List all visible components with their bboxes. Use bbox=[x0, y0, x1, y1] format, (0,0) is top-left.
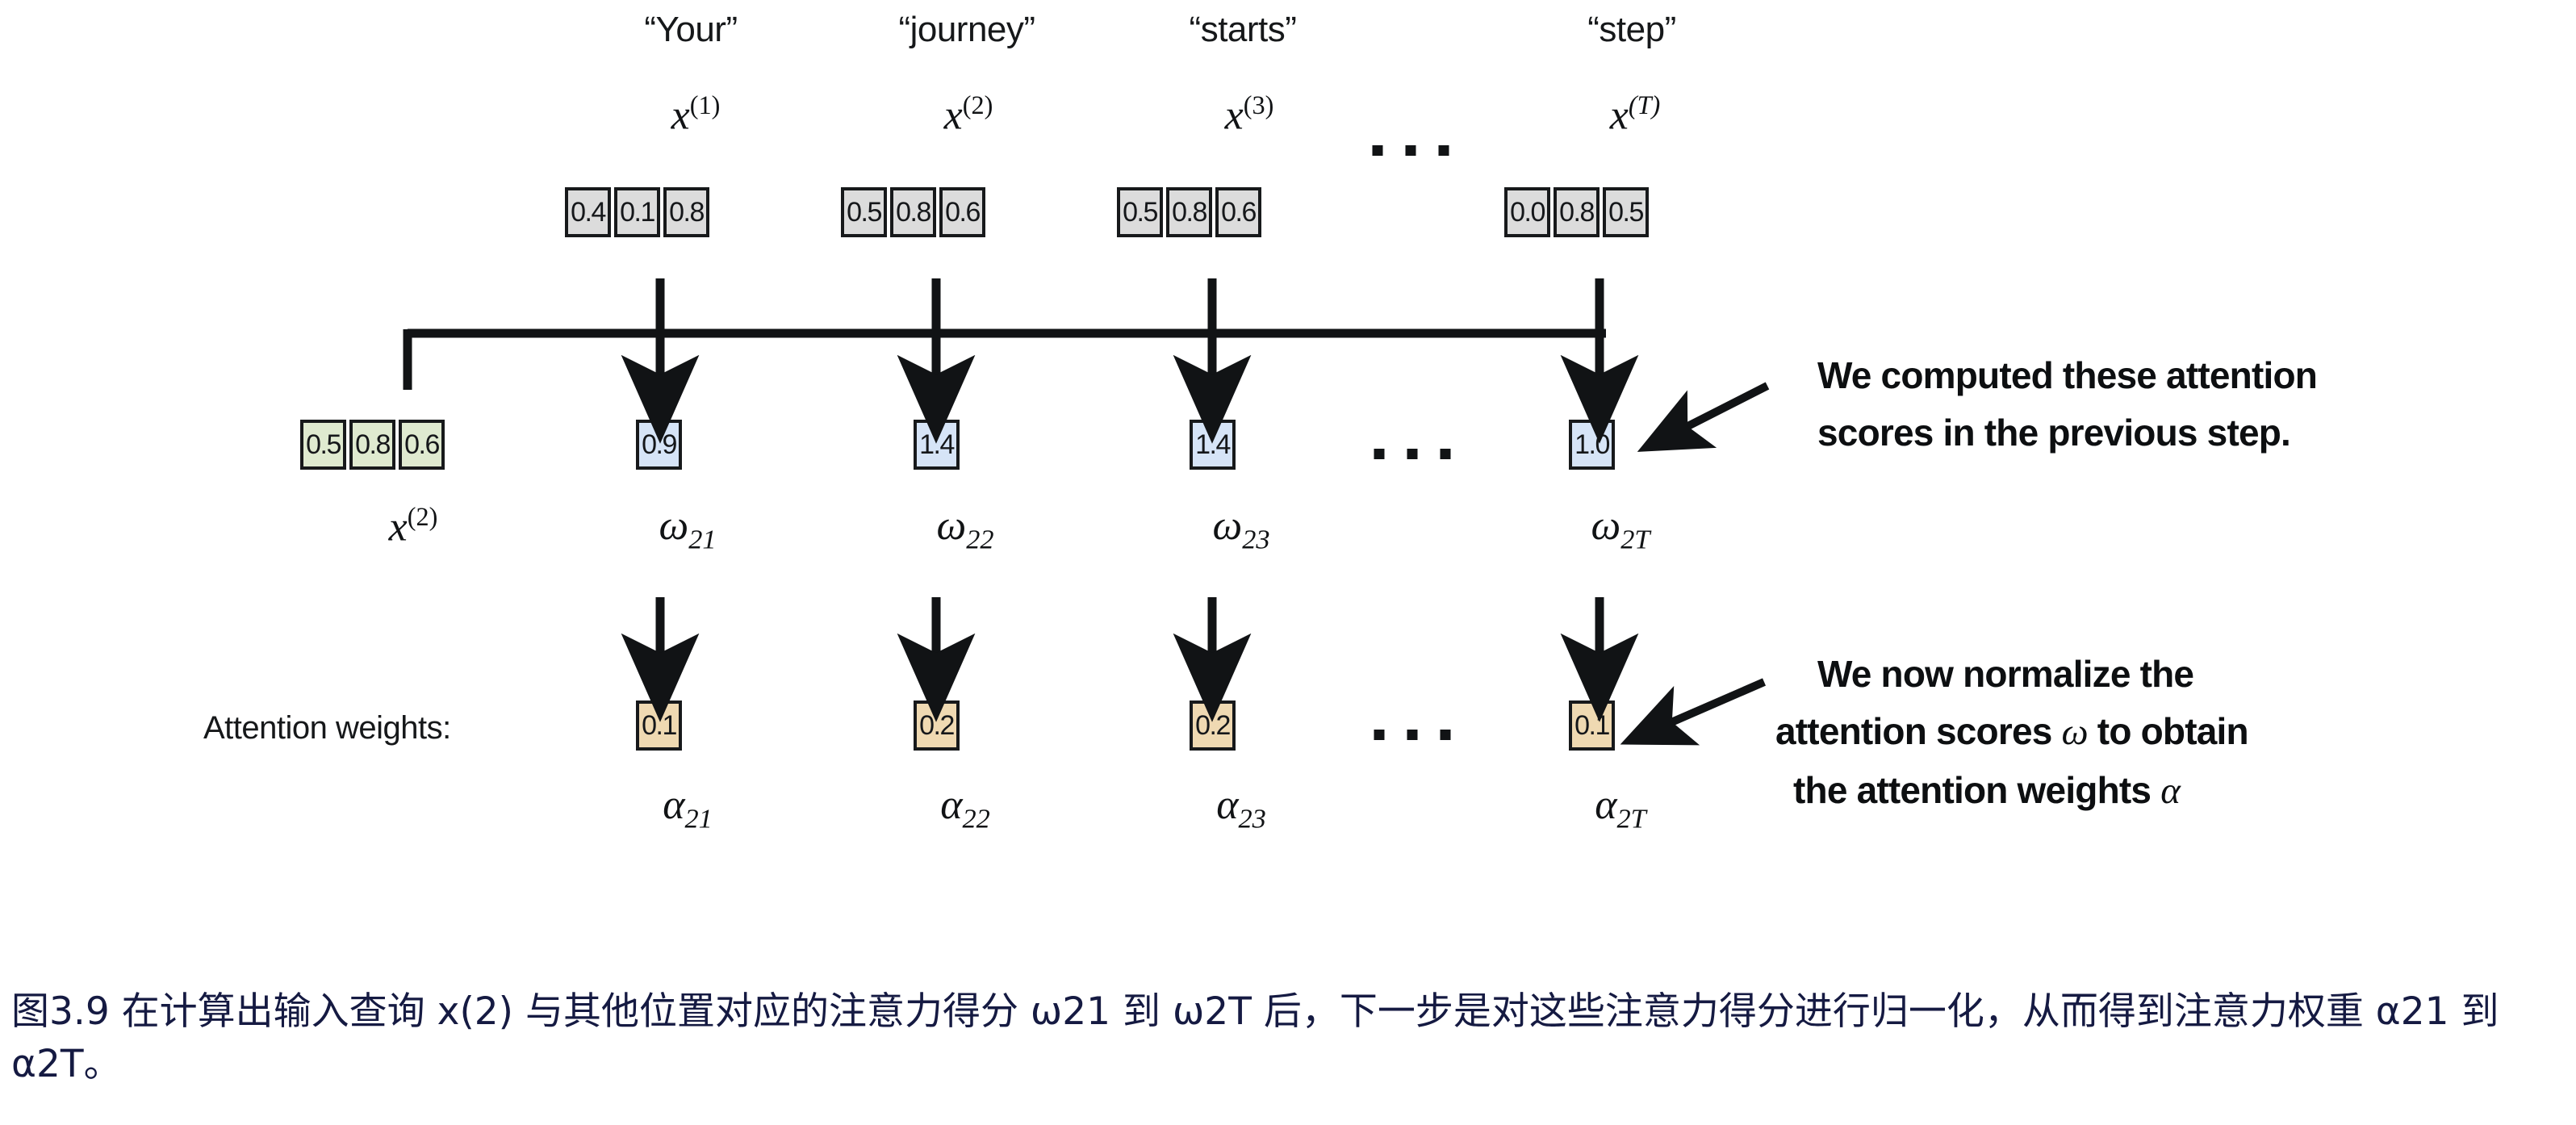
annotation-normalize-line1: We now normalize the bbox=[1775, 646, 2248, 703]
query-symbol-base: x bbox=[389, 504, 408, 550]
score-symbol-base: ω bbox=[936, 503, 966, 549]
weight-symbol-3: α23 bbox=[1216, 781, 1266, 834]
annotation-normalize-line3-a: the attention weights bbox=[1793, 769, 2160, 811]
alpha-glyph: α bbox=[2160, 770, 2180, 812]
score-symbol-sub: 23 bbox=[1242, 524, 1269, 554]
weight-symbol-4: α2T bbox=[1595, 781, 1646, 834]
score-symbol-sub: 22 bbox=[966, 524, 993, 554]
vector-cell: 0.1 bbox=[614, 187, 660, 237]
token-word-2: “journey” bbox=[898, 10, 1035, 50]
weight-symbol-2: α22 bbox=[940, 781, 990, 834]
weight-symbol-1: α21 bbox=[663, 781, 713, 834]
token-symbol-3: x(3) bbox=[1225, 90, 1274, 139]
weight-box-4: 0.1 bbox=[1569, 701, 1615, 751]
weight-box-1: 0.1 bbox=[636, 701, 682, 751]
token-symbol-4: x(T) bbox=[1610, 90, 1661, 139]
score-value: 1.0 bbox=[1569, 420, 1615, 470]
vector-cell: 0.8 bbox=[1166, 187, 1212, 237]
token-symbol-base-4: x bbox=[1610, 92, 1629, 138]
token-vector-2: 0.5 0.8 0.6 bbox=[841, 187, 985, 237]
callout-arrow-normalize bbox=[1653, 682, 1764, 730]
weight-value: 0.1 bbox=[636, 701, 682, 751]
score-symbol-base: ω bbox=[659, 503, 688, 549]
vector-cell: 0.5 bbox=[1117, 187, 1163, 237]
query-symbol: x(2) bbox=[389, 502, 438, 550]
score-value: 1.4 bbox=[1190, 420, 1236, 470]
token-symbol-base-1: x bbox=[671, 92, 690, 138]
annotation-scores-line1: We computed these attention bbox=[1817, 347, 2317, 404]
score-box-3: 1.4 bbox=[1190, 420, 1236, 470]
score-box-4: 1.0 bbox=[1569, 420, 1615, 470]
token-word-3: “starts” bbox=[1190, 10, 1297, 50]
vector-cell: 0.4 bbox=[565, 187, 611, 237]
weight-symbol-sub: 2T bbox=[1617, 803, 1646, 834]
token-vector-4: 0.0 0.8 0.5 bbox=[1504, 187, 1649, 237]
score-symbol-sub: 21 bbox=[688, 524, 716, 554]
vector-cell: 0.5 bbox=[841, 187, 887, 237]
query-cell: 0.8 bbox=[349, 420, 395, 470]
score-symbol-base: ω bbox=[1212, 503, 1242, 549]
query-vector: 0.5 0.8 0.6 bbox=[300, 420, 445, 470]
connector-layer bbox=[0, 0, 2576, 1125]
score-value: 1.4 bbox=[914, 420, 960, 470]
weight-symbol-base: α bbox=[940, 782, 962, 828]
score-symbol-2: ω22 bbox=[936, 502, 993, 555]
weight-symbol-base: α bbox=[663, 782, 684, 828]
token-symbol-1: x(1) bbox=[671, 90, 721, 139]
token-symbol-base-3: x bbox=[1225, 92, 1244, 138]
weight-value: 0.2 bbox=[1190, 701, 1236, 751]
weight-symbol-base: α bbox=[1595, 782, 1616, 828]
score-box-1: 0.9 bbox=[636, 420, 682, 470]
token-vector-1: 0.4 0.1 0.8 bbox=[565, 187, 709, 237]
weight-symbol-sub: 21 bbox=[684, 803, 712, 834]
ellipsis-weights bbox=[1374, 730, 1451, 740]
weight-symbol-base: α bbox=[1216, 782, 1238, 828]
token-symbol-base-2: x bbox=[944, 92, 963, 138]
score-symbol-4: ω2T bbox=[1591, 502, 1650, 555]
score-symbol-3: ω23 bbox=[1212, 502, 1269, 555]
vector-cell: 0.8 bbox=[890, 187, 936, 237]
callout-arrow-scores bbox=[1669, 386, 1767, 436]
score-symbol-base: ω bbox=[1591, 503, 1621, 549]
query-cell: 0.5 bbox=[300, 420, 346, 470]
omega-glyph: ω bbox=[2062, 711, 2088, 753]
annotation-scores: We computed these attention scores in th… bbox=[1817, 347, 2317, 462]
token-symbol-sup-3: (3) bbox=[1244, 90, 1274, 119]
token-symbol-sup-2: (2) bbox=[963, 90, 993, 119]
token-word-4: “step” bbox=[1587, 10, 1675, 50]
annotation-normalize-line3: the attention weights α bbox=[1775, 762, 2248, 821]
annotation-normalize-line2: attention scores ω to obtain bbox=[1775, 703, 2248, 762]
annotation-scores-line2: scores in the previous step. bbox=[1817, 404, 2317, 462]
ellipsis-inputs bbox=[1373, 145, 1449, 156]
token-symbol-sup-4: (T) bbox=[1629, 90, 1660, 119]
token-symbol-2: x(2) bbox=[944, 90, 993, 139]
attention-weights-label: Attention weights: bbox=[203, 710, 451, 747]
score-symbol-sub: 2T bbox=[1620, 524, 1650, 554]
vector-cell: 0.6 bbox=[939, 187, 985, 237]
annotation-normalize-line2-a: attention scores bbox=[1775, 710, 2062, 752]
score-value: 0.9 bbox=[636, 420, 682, 470]
vector-cell: 0.8 bbox=[1554, 187, 1600, 237]
token-symbol-sup-1: (1) bbox=[690, 90, 721, 119]
query-cell: 0.6 bbox=[399, 420, 445, 470]
token-vector-3: 0.5 0.8 0.6 bbox=[1117, 187, 1261, 237]
weight-value: 0.2 bbox=[914, 701, 960, 751]
weight-value: 0.1 bbox=[1569, 701, 1615, 751]
figure-caption: 图3.9 在计算出输入查询 x(2) 与其他位置对应的注意力得分 ω21 到 ω… bbox=[11, 986, 2570, 1091]
vector-cell: 0.6 bbox=[1215, 187, 1261, 237]
annotation-normalize-line2-b: to obtain bbox=[2088, 710, 2248, 752]
token-word-1: “Your” bbox=[644, 10, 737, 50]
weight-box-3: 0.2 bbox=[1190, 701, 1236, 751]
query-symbol-sup: (2) bbox=[408, 502, 438, 531]
ellipsis-scores bbox=[1374, 449, 1451, 459]
annotation-normalize: We now normalize the attention scores ω … bbox=[1775, 646, 2248, 821]
figure-canvas: “Your” “journey” “starts” “step” x(1) x(… bbox=[0, 0, 2576, 1125]
vector-cell: 0.5 bbox=[1603, 187, 1649, 237]
weight-box-2: 0.2 bbox=[914, 701, 960, 751]
score-symbol-1: ω21 bbox=[659, 502, 716, 555]
vector-cell: 0.8 bbox=[663, 187, 709, 237]
weight-symbol-sub: 23 bbox=[1238, 803, 1265, 834]
score-box-2: 1.4 bbox=[914, 420, 960, 470]
vector-cell: 0.0 bbox=[1504, 187, 1550, 237]
weight-symbol-sub: 22 bbox=[962, 803, 989, 834]
